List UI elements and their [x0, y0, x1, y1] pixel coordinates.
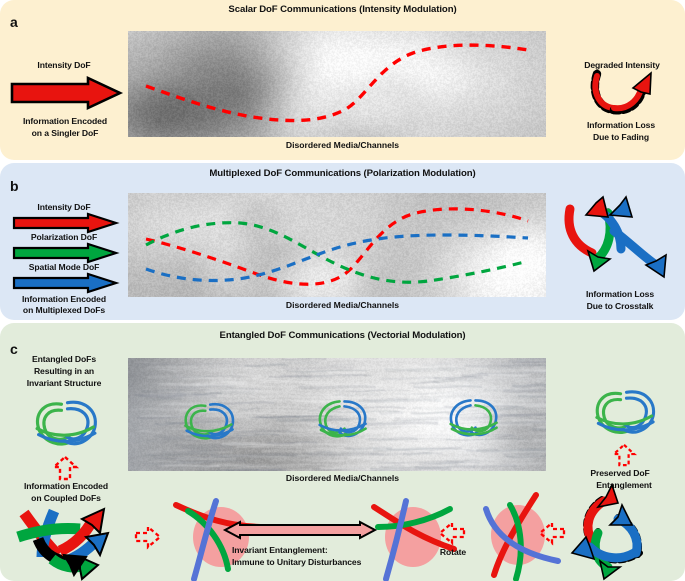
panel-a-right-caption-line1: Information Loss [558, 120, 684, 132]
panel-a-left-caption-line2: on a Singler DoF [2, 128, 128, 140]
panel-a-intensity-curve [128, 31, 546, 137]
panel-b-polarization-curve [146, 223, 528, 283]
knot-in-media-1 [178, 396, 240, 448]
panel-c-left-top-line2: Resulting in an [0, 366, 128, 378]
crosstalk-arrows-icon [556, 195, 684, 291]
panel-b-intensity-dof-label: Intensity DoF [4, 202, 124, 214]
dashed-left-arrow-icon [438, 521, 466, 545]
dashed-up-arrow-icon [612, 443, 636, 467]
panel-c-left-top-line1: Entangled DoFs [0, 354, 128, 366]
panel-b-title: Multiplexed DoF Communications (Polariza… [0, 168, 685, 179]
entangled-arrows-cluster-left [8, 499, 126, 579]
panel-a: Scalar DoF Communications (Intensity Mod… [0, 0, 685, 160]
panel-c-left-top-line3: Invariant Structure [0, 378, 128, 390]
degraded-intensity-arc-icon [588, 72, 658, 118]
panel-c: Entangled DoF Communications (Vectorial … [0, 323, 685, 581]
panel-a-disordered-media [128, 31, 546, 137]
knot-in-media-3 [442, 390, 504, 448]
intensity-dof-arrow [12, 213, 118, 233]
panel-a-letter: a [10, 14, 18, 30]
panel-a-intensity-dof-label: Intensity DoF [4, 60, 124, 72]
panel-a-right-caption-line2: Due to Fading [558, 132, 684, 144]
panel-a-left-caption-line1: Information Encoded [2, 116, 128, 128]
panel-b-disordered-media [128, 193, 546, 297]
panel-a-degraded-intensity-label: Degraded Intensity [560, 60, 684, 72]
entangled-arrows-cluster-right [560, 483, 680, 581]
panel-c-disordered-media [128, 358, 546, 471]
panel-c-title: Entangled DoF Communications (Vectorial … [0, 330, 685, 341]
panel-a-title: Scalar DoF Communications (Intensity Mod… [0, 4, 685, 15]
panel-b: Multiplexed DoF Communications (Polariza… [0, 163, 685, 320]
polarization-dof-arrow [12, 243, 118, 263]
dashed-right-arrow-icon [134, 525, 162, 549]
knot-in-media-2 [311, 392, 373, 448]
panel-b-curves [128, 193, 546, 297]
panel-b-right-caption-line1: Information Loss [556, 289, 684, 301]
panel-b-right-caption-line2: Due to Crosstalk [556, 301, 684, 313]
panel-c-right-line1: Preserved DoF [556, 468, 684, 480]
entangled-knot-icon [588, 383, 662, 443]
panel-b-letter: b [10, 178, 19, 194]
spatial-mode-dof-arrow [12, 273, 118, 293]
panel-b-spatial-mode-dof-label: Spatial Mode DoF [4, 262, 124, 274]
double-headed-arrow-icon [224, 521, 376, 539]
intensity-dof-arrow [10, 76, 122, 110]
panel-b-polarization-dof-label: Polarization DoF [4, 232, 124, 244]
entangled-knot-icon [28, 393, 104, 455]
